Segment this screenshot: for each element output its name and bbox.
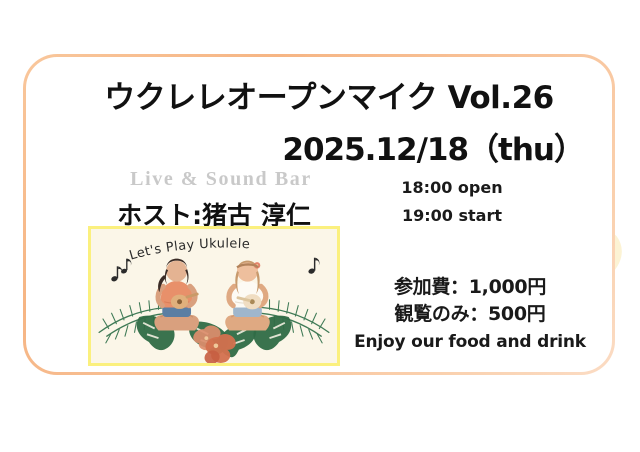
event-title: ウクレレオープンマイク Vol.26	[0, 72, 640, 117]
viewing-fee: 観覧のみ：500円	[340, 301, 600, 328]
fees-block: 参加費：1,000円 観覧のみ：500円 Enjoy our food and …	[340, 274, 600, 355]
poster-content: ウクレレオープンマイク Vol.26 2025.12/18（thu） Live …	[0, 0, 640, 452]
venue-tagline: Live & Sound Bar	[91, 168, 351, 191]
flyer-poster: チャッチュ ウクレレオープンマイク Vol.26 2025.12/18（thu）…	[0, 0, 640, 452]
participation-fee: 参加費：1,000円	[340, 274, 600, 301]
start-time: 19:00 start	[352, 202, 552, 230]
event-date: 2025.12/18（thu）	[0, 124, 640, 169]
open-time: 18:00 open	[352, 174, 552, 202]
food-drink-note: Enjoy our food and drink	[340, 329, 600, 355]
ukulele-illustration: Let's Play Ukulele	[88, 226, 340, 366]
event-times: 18:00 open 19:00 start	[352, 174, 552, 230]
